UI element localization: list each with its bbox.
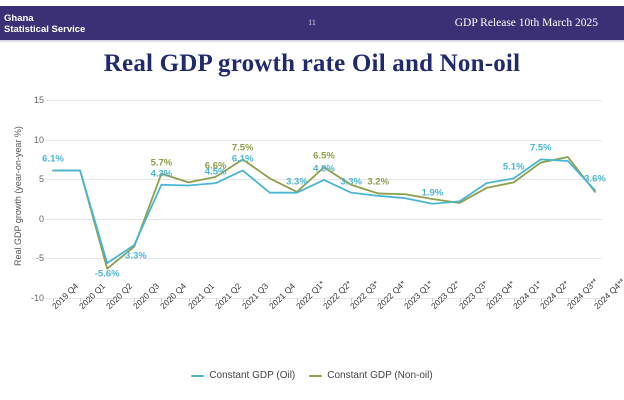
- data-point-label: -3.3%: [122, 250, 147, 261]
- data-point-label: 3.3%: [286, 176, 308, 187]
- legend-label-oil: Constant GDP (Oil): [209, 370, 295, 381]
- y-axis-tick-label: -5: [18, 253, 44, 263]
- legend-label-nonoil: Constant GDP (Non-oil): [327, 370, 432, 381]
- data-point-label: 4.9%: [313, 163, 335, 174]
- data-point-label: 7.5%: [232, 143, 254, 154]
- chart-plot-area: 6.1%-5.6%-3.3%4.3%4.5%6.1%3.3%4.9%3.3%1.…: [46, 100, 602, 298]
- y-axis-tick-label: 15: [18, 95, 44, 105]
- data-point-label: 6.1%: [42, 154, 64, 165]
- data-point-label: 5.7%: [151, 157, 173, 168]
- legend-item-oil[interactable]: Constant GDP (Oil): [191, 370, 295, 381]
- data-point-label: 3.6%: [584, 174, 606, 185]
- chart-legend: Constant GDP (Oil) Constant GDP (Non-oil…: [0, 370, 624, 381]
- y-axis-tick-label: 10: [18, 135, 44, 145]
- y-axis-tick-label: 0: [18, 214, 44, 224]
- header-shadow: [0, 40, 624, 43]
- legend-swatch-nonoil: [309, 375, 322, 377]
- data-point-label: 7.5%: [530, 143, 552, 154]
- data-point-label: 6.1%: [232, 154, 254, 165]
- header-bar: Ghana Statistical Service 11 GDP Release…: [0, 6, 624, 40]
- data-point-label: 6.5%: [313, 151, 335, 162]
- series-lines: [46, 100, 602, 298]
- release-label: GDP Release 10th March 2025: [455, 6, 598, 40]
- y-axis-tick-label: -10: [18, 293, 44, 303]
- x-axis-tick-labels: 2019 Q42020 Q12020 Q22020 Q32020 Q42021 …: [46, 304, 602, 362]
- y-axis-tick-label: 5: [18, 174, 44, 184]
- data-point-label: 4.3%: [151, 168, 173, 179]
- data-point-label: 3.2%: [367, 177, 389, 188]
- data-point-label: 3.3%: [340, 176, 362, 187]
- data-point-label: 6.6%: [205, 160, 227, 171]
- legend-item-nonoil[interactable]: Constant GDP (Non-oil): [309, 370, 432, 381]
- page-title: Real GDP growth rate Oil and Non-oil: [0, 50, 624, 78]
- data-point-label: 1.9%: [422, 187, 444, 198]
- data-point-label: -5.6%: [95, 269, 120, 280]
- y-axis-tick-labels: 151050-5-10: [14, 100, 44, 298]
- data-point-label: 5.1%: [503, 162, 525, 173]
- legend-swatch-oil: [191, 375, 204, 377]
